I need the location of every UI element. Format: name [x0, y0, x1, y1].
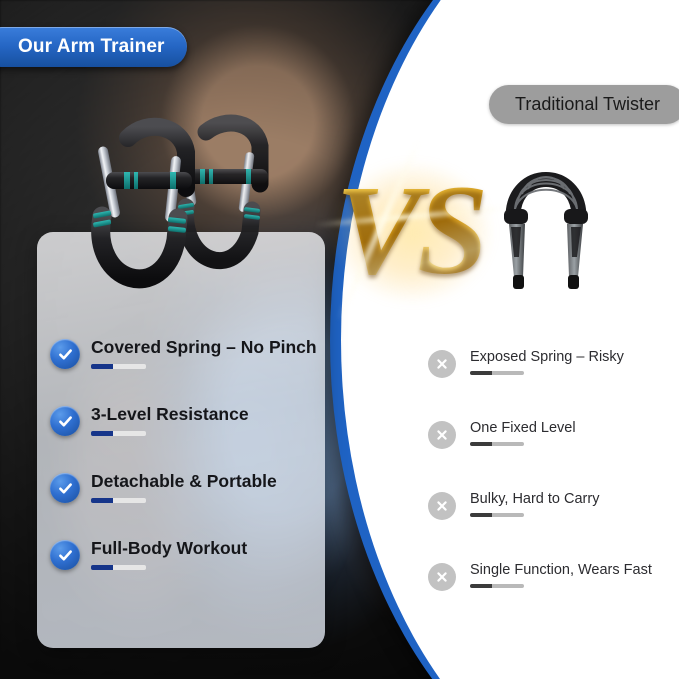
list-item: Bulky, Hard to Carry	[428, 490, 678, 520]
feature-label: Detachable & Portable	[91, 471, 277, 491]
list-item: Detachable & Portable	[50, 472, 330, 503]
feature-underline-bar	[91, 565, 146, 570]
list-item: Covered Spring – No Pinch	[50, 338, 330, 369]
check-circle-icon	[50, 406, 80, 436]
feature-underline-bar	[470, 442, 524, 446]
list-item: Exposed Spring – Risky	[428, 348, 678, 378]
feature-text-block: Bulky, Hard to Carry	[470, 490, 599, 517]
feature-text-block: 3-Level Resistance	[91, 405, 249, 436]
feature-label: Covered Spring – No Pinch	[91, 337, 317, 357]
list-item: Single Function, Wears Fast	[428, 561, 678, 591]
left-feature-list: Covered Spring – No Pinch 3-Level Resist…	[50, 338, 330, 570]
feature-text-block: One Fixed Level	[470, 419, 576, 446]
feature-text-block: Single Function, Wears Fast	[470, 561, 652, 588]
check-circle-icon	[50, 473, 80, 503]
feature-underline-bar	[91, 364, 146, 369]
comparison-infographic: VS Our Arm Trainer Traditional Twister C…	[0, 0, 679, 679]
right-product-badge: Traditional Twister	[489, 85, 679, 124]
feature-label: 3-Level Resistance	[91, 404, 249, 424]
x-circle-icon	[428, 492, 456, 520]
check-circle-icon	[50, 540, 80, 570]
feature-text-block: Full-Body Workout	[91, 539, 247, 570]
feature-underline-bar	[470, 513, 524, 517]
x-circle-icon	[428, 350, 456, 378]
list-item: Full-Body Workout	[50, 539, 330, 570]
right-feature-list: Exposed Spring – Risky One Fixed Level B…	[428, 348, 678, 591]
feature-label: Single Function, Wears Fast	[470, 562, 652, 578]
feature-text-block: Covered Spring – No Pinch	[91, 338, 317, 369]
feature-underline-bar	[91, 431, 146, 436]
feature-underline-bar	[91, 498, 146, 503]
feature-label: Exposed Spring – Risky	[470, 349, 624, 365]
check-circle-icon	[50, 339, 80, 369]
feature-text-block: Detachable & Portable	[91, 472, 277, 503]
feature-label: One Fixed Level	[470, 420, 576, 436]
x-circle-icon	[428, 563, 456, 591]
feature-label: Bulky, Hard to Carry	[470, 491, 599, 507]
x-circle-icon	[428, 421, 456, 449]
left-product-badge: Our Arm Trainer	[0, 27, 187, 67]
feature-text-block: Exposed Spring – Risky	[470, 348, 624, 375]
left-product-image	[60, 112, 310, 312]
vs-badge: VS	[320, 140, 500, 320]
feature-underline-bar	[470, 371, 524, 375]
right-product-image	[487, 145, 605, 310]
right-badge-label: Traditional Twister	[515, 94, 660, 115]
list-item: 3-Level Resistance	[50, 405, 330, 436]
left-badge-label: Our Arm Trainer	[18, 36, 165, 58]
feature-underline-bar	[470, 584, 524, 588]
list-item: One Fixed Level	[428, 419, 678, 449]
feature-label: Full-Body Workout	[91, 538, 247, 558]
